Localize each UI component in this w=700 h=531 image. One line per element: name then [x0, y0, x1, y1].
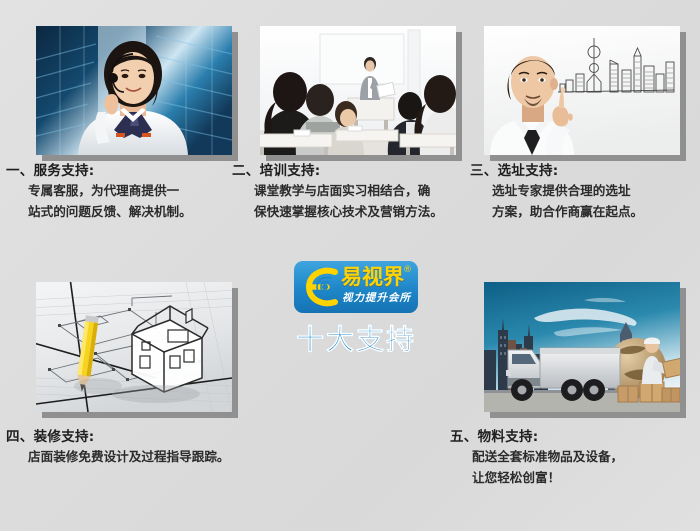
logistics-truck-delivery-icon: [484, 282, 680, 412]
text-block-site-selection-support: 三、选址支持: 选址专家提供合理的选址 方案，助合作商赢在起点。: [470, 162, 696, 222]
heading-training-support: 二、培训支持:: [232, 162, 482, 180]
brand-name-chinese: 易视界: [341, 265, 404, 290]
photo-service-support: [36, 26, 232, 155]
photo-materials-support: [484, 282, 680, 412]
brand-logo-area: 易视界 视力提升会所 ® 十大支持: [294, 261, 418, 357]
eye-spiral-e-logo-icon: [301, 266, 343, 308]
body-service-support: 专属客服，为代理商提供一 站式的问题反馈、解决机制。: [6, 180, 234, 222]
body-site-selection-support: 选址专家提供合理的选址 方案，助合作商赢在起点。: [470, 180, 696, 222]
text-block-decoration-support: 四、装修支持: 店面装修免费设计及过程指导跟踪。: [6, 428, 336, 467]
brand-logo-box: 易视界 视力提升会所 ®: [294, 261, 418, 313]
heading-service-support: 一、服务支持:: [6, 162, 234, 180]
photo-training-support: [260, 26, 456, 155]
house-blueprint-icon: [36, 282, 232, 412]
heading-decoration-support: 四、装修支持:: [6, 428, 336, 446]
body-materials-support: 配送全套标准物品及设备， 让您轻松创富！: [450, 446, 700, 488]
call-center-agent-icon: [36, 26, 232, 155]
poster-canvas: 一、服务支持: 专属客服，为代理商提供一 站式的问题反馈、解决机制。: [0, 0, 700, 531]
photo-site-selection-support: [484, 26, 680, 155]
brand-subtitle: 视力提升会所: [342, 292, 411, 305]
businessman-skyline-sketch-icon: [484, 26, 680, 155]
photo-decoration-support: [36, 282, 232, 412]
heading-site-selection-support: 三、选址支持:: [470, 162, 696, 180]
heading-materials-support: 五、物料支持:: [450, 428, 700, 446]
text-block-service-support: 一、服务支持: 专属客服，为代理商提供一 站式的问题反馈、解决机制。: [6, 162, 234, 222]
body-decoration-support: 店面装修免费设计及过程指导跟踪。: [6, 446, 336, 467]
tagline-ten-supports: 十大支持: [294, 323, 418, 357]
text-block-training-support: 二、培训支持: 课堂教学与店面实习相结合，确 保快速掌握核心技术及营销方法。: [232, 162, 482, 222]
classroom-training-icon: [260, 26, 456, 155]
text-block-materials-support: 五、物料支持: 配送全套标准物品及设备， 让您轻松创富！: [450, 428, 700, 488]
body-training-support: 课堂教学与店面实习相结合，确 保快速掌握核心技术及营销方法。: [232, 180, 482, 222]
registered-trademark-icon: ®: [403, 265, 412, 275]
